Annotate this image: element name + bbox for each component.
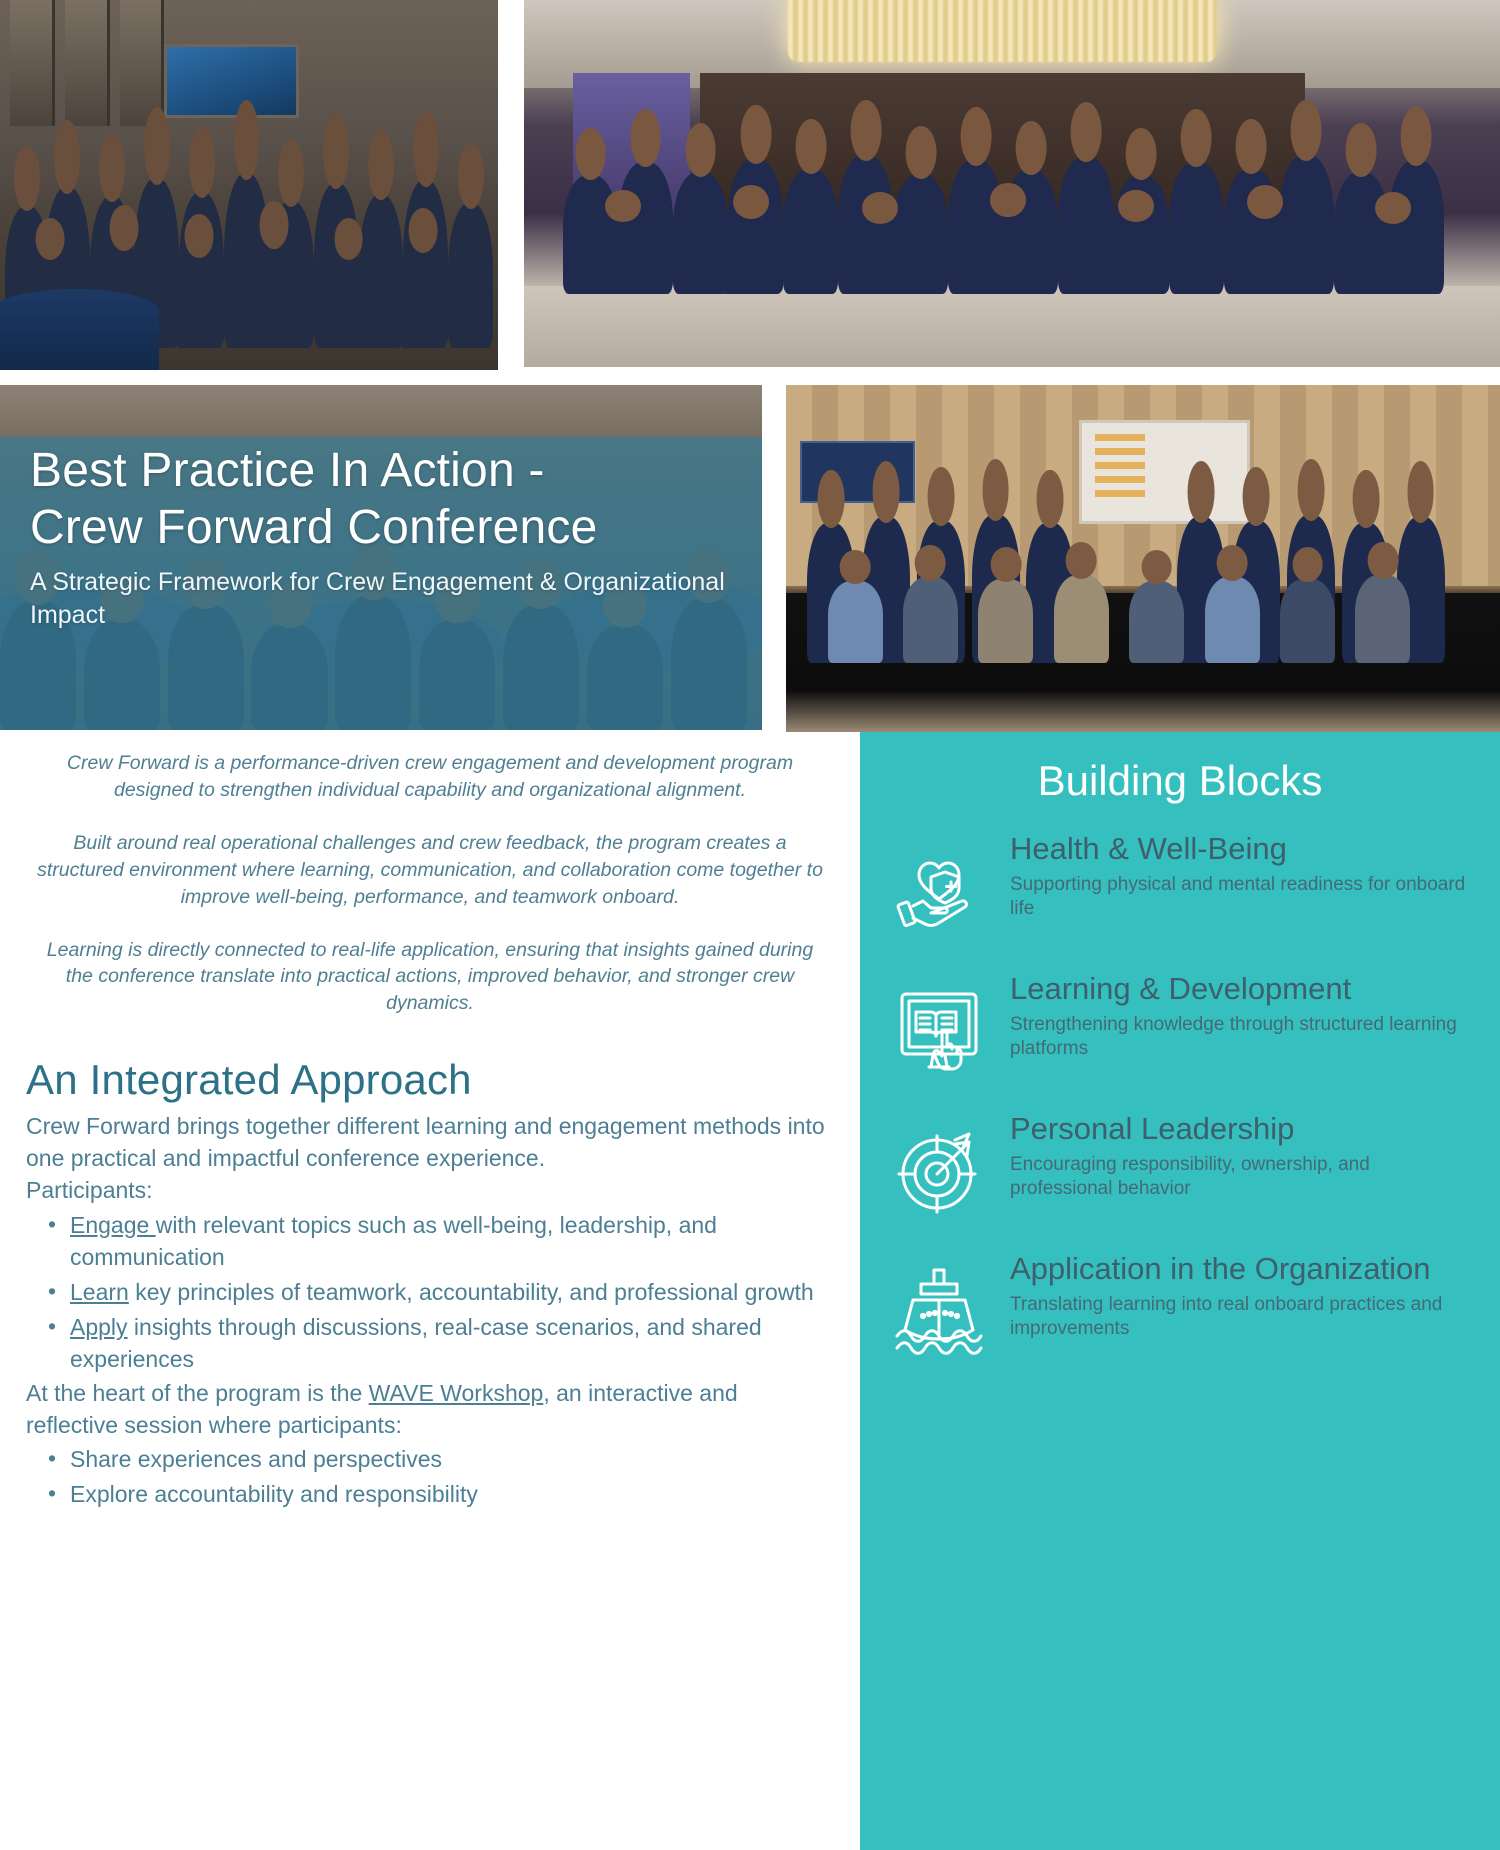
list-item: Engage with relevant topics such as well… [26,1209,834,1274]
building-block-heading: Personal Leadership [1010,1112,1476,1147]
list-item: Apply insights through discussions, real… [26,1311,834,1376]
group-photo-ballroom [524,0,1500,367]
building-block-description: Encouraging responsibility, ownership, a… [1010,1153,1476,1201]
group-photo-stage [786,385,1500,732]
building-block-description: Supporting physical and mental readiness… [1010,873,1476,921]
group-photo-banquet-hall [0,0,498,370]
wave-workshop-paragraph: At the heart of the program is the WAVE … [26,1378,834,1441]
intro-paragraph-1: Crew Forward is a performance-driven cre… [35,750,825,804]
bullet-text: insights through discussions, real-case … [70,1314,762,1373]
list-item: Learn key principles of teamwork, accoun… [26,1276,834,1309]
target-arrow-icon [884,1118,994,1222]
building-blocks-panel: Building Blocks Health & Well-Being Supp… [860,732,1500,1850]
building-block-application-organization: Application in the Organization Translat… [884,1250,1476,1362]
photo-scene [0,0,498,370]
building-block-heading: Health & Well-Being [1010,832,1476,867]
bullet-link-apply[interactable]: Apply [70,1314,128,1340]
banner-title-line-1: Best Practice In Action - [30,443,736,500]
bullet-text: with relevant topics such as well-being,… [70,1212,717,1271]
section-heading-integrated-approach: An Integrated Approach [26,1057,834,1103]
bullet-text: key principles of teamwork, accountabili… [129,1279,814,1305]
title-banner: Best Practice In Action - Crew Forward C… [0,385,762,730]
wave-bullet-list: Share experiences and perspectives Explo… [26,1443,834,1510]
list-item: Explore accountability and responsibilit… [26,1478,834,1511]
monitor-book-hand-icon [884,978,994,1082]
hand-heart-shield-icon [884,838,994,942]
building-blocks-title: Building Blocks [884,758,1476,804]
building-block-heading: Learning & Development [1010,972,1476,1007]
banner-subtitle: A Strategic Framework for Crew Engagemen… [30,566,736,631]
intro-paragraph-3: Learning is directly connected to real-l… [35,937,825,1018]
bullet-link-engage[interactable]: Engage [70,1212,156,1238]
banner-title-line-2: Crew Forward Conference [30,500,736,557]
photo-scene [524,0,1500,367]
participants-label: Participants: [26,1175,834,1207]
ship-waves-icon [884,1258,994,1362]
participants-bullet-list: Engage with relevant topics such as well… [26,1209,834,1376]
building-block-description: Translating learning into real onboard p… [1010,1293,1476,1341]
building-block-health-wellbeing: Health & Well-Being Supporting physical … [884,830,1476,942]
building-block-heading: Application in the Organization [1010,1252,1476,1287]
wave-text-before: At the heart of the program is the [26,1380,369,1406]
wave-workshop-link[interactable]: WAVE Workshop [369,1380,544,1406]
building-block-learning-development: Learning & Development Strengthening kno… [884,970,1476,1082]
building-block-description: Strengthening knowledge through structur… [1010,1013,1476,1061]
infographic-page: Best Practice In Action - Crew Forward C… [0,0,1500,1850]
intro-paragraphs: Crew Forward is a performance-driven cre… [35,750,825,1017]
photo-scene [786,385,1500,732]
intro-paragraph-2: Built around real operational challenges… [35,830,825,911]
main-content-column: Crew Forward is a performance-driven cre… [0,732,860,1850]
approach-lead-text: Crew Forward brings together different l… [26,1111,834,1174]
building-block-personal-leadership: Personal Leadership Encouraging responsi… [884,1110,1476,1222]
list-item: Share experiences and perspectives [26,1443,834,1476]
bullet-link-learn[interactable]: Learn [70,1279,129,1305]
